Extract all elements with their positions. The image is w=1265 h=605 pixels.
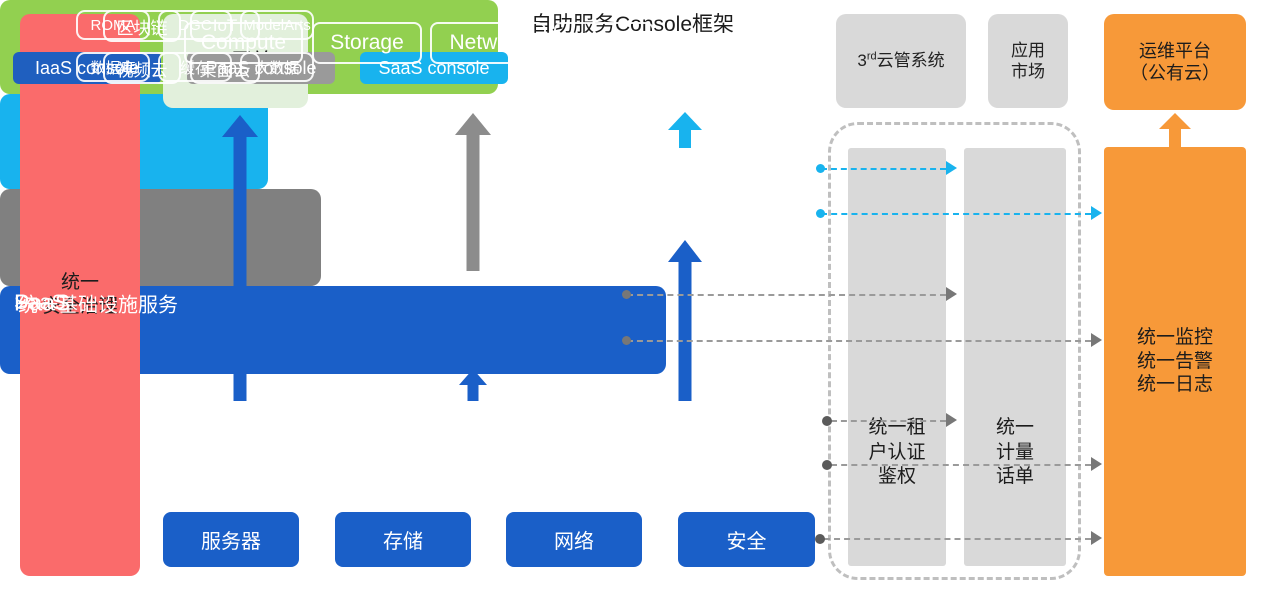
link-infra-to-ops-origin	[822, 460, 832, 470]
link-infra-to-auth-arrowhead	[946, 413, 957, 427]
ops-monitoring-column[interactable]: 统一监控 统一告警 统一日志	[1104, 147, 1246, 576]
paas-chip-database[interactable]: 数据库	[76, 52, 150, 82]
link-saas-to-ops-origin	[816, 209, 825, 218]
app-market-box[interactable]: 应用 市场	[988, 14, 1068, 108]
link-saas-to-auth-origin	[816, 164, 825, 173]
shared-service-metering-column[interactable]: 统一 计量 话单	[964, 148, 1066, 566]
app-market-label: 应用 市场	[1011, 40, 1045, 83]
resource-box-security[interactable]: 安全	[678, 512, 815, 567]
link-paas-to-ops	[627, 340, 1091, 342]
ops-platform-box[interactable]: 运维平台 （公有云）	[1104, 14, 1246, 110]
resource-box-network[interactable]: 网络	[506, 512, 642, 567]
link-resources-to-ops-arrowhead	[1091, 531, 1102, 545]
shared-service-auth-column[interactable]: 统一租 户认证 鉴权	[848, 148, 946, 566]
link-paas-to-auth-arrowhead	[946, 287, 957, 301]
link-paas-to-auth	[627, 294, 946, 296]
arrow-ops-column-to-ops-platform	[1159, 113, 1191, 147]
resource-box-server[interactable]: 服务器	[163, 512, 299, 567]
link-infra-to-ops-arrowhead	[1091, 457, 1102, 471]
third-party-cloud-superscript: rd	[867, 51, 877, 63]
link-saas-to-auth-arrowhead	[946, 161, 957, 175]
link-resources-to-ops-origin	[815, 534, 825, 544]
infra-chip-compute-label: Compute	[201, 31, 286, 55]
arrow-infra-to-api-gateway	[222, 115, 258, 401]
infra-chip-network[interactable]: Network	[430, 22, 546, 64]
paas-chip-roma[interactable]: ROMA	[76, 10, 150, 40]
resource-box-server-label: 服务器	[201, 525, 261, 554]
resource-box-storage-label: 存储	[383, 525, 423, 554]
third-party-cloud-box[interactable]: 3rd云管系统	[836, 14, 966, 108]
arrow-saas-to-console	[668, 112, 702, 148]
paas-chip-roma-label: ROMA	[91, 17, 136, 34]
arrow-infra-to-paas	[459, 369, 487, 401]
resource-box-network-label: 网络	[554, 525, 594, 554]
architecture-diagram: 统一 安全治理 API网关 自助服务Console框架 IaaS console…	[0, 0, 1265, 605]
shared-service-metering-label: 统一 计量 话单	[964, 416, 1066, 490]
link-saas-to-auth	[821, 168, 946, 170]
infra-chip-cce[interactable]: CCE	[554, 22, 654, 64]
infra-chip-compute[interactable]: Compute	[184, 22, 303, 64]
resource-box-storage[interactable]: 存储	[335, 512, 471, 567]
resource-box-security-label: 安全	[727, 525, 767, 554]
infra-chip-storage[interactable]: Storage	[312, 22, 422, 64]
link-saas-to-ops-arrowhead	[1091, 206, 1102, 220]
infra-chip-cce-label: CCE	[582, 31, 626, 55]
link-infra-to-auth	[831, 420, 946, 422]
ops-platform-label: 运维平台 （公有云）	[1130, 40, 1220, 85]
shared-service-auth-label: 统一租 户认证 鉴权	[848, 416, 946, 490]
link-paas-to-auth-origin	[622, 290, 631, 299]
arrow-paas-to-console	[455, 113, 491, 271]
third-party-cloud-number: 3	[857, 51, 866, 70]
link-paas-to-ops-arrowhead	[1091, 333, 1102, 347]
infra-chip-network-label: Network	[449, 31, 526, 55]
infrastructure-label: 统一基础设施服务	[18, 288, 178, 317]
infra-chip-storage-label: Storage	[330, 31, 404, 55]
paas-chip-database-label: 数据库	[90, 57, 135, 78]
link-paas-to-ops-origin	[622, 336, 631, 345]
arrow-infra-to-saas	[668, 240, 702, 401]
link-saas-to-ops	[821, 213, 1091, 215]
link-infra-to-auth-origin	[822, 416, 832, 426]
ops-monitoring-label: 统一监控 统一告警 统一日志	[1137, 326, 1213, 397]
link-infra-to-ops	[831, 464, 1091, 466]
link-resources-to-ops	[824, 538, 1091, 540]
third-party-cloud-rest: 云管系统	[877, 51, 945, 70]
third-party-cloud-label: 3rd云管系统	[857, 50, 944, 71]
